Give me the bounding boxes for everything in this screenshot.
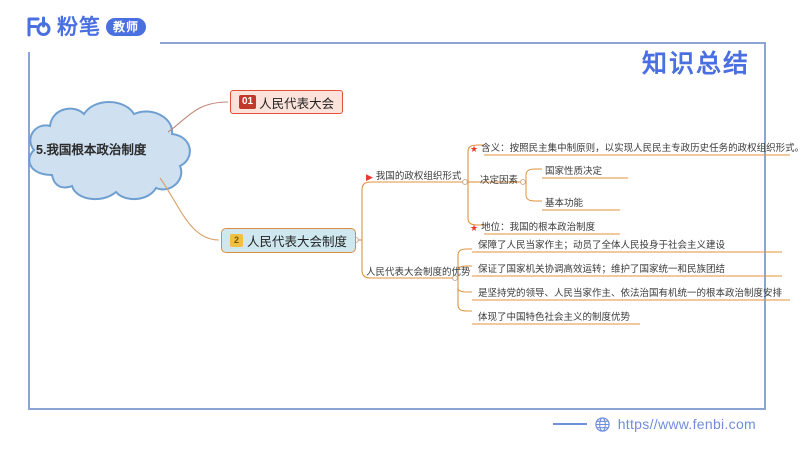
brand-name: 粉笔 bbox=[57, 17, 101, 38]
frame-border-left bbox=[28, 52, 30, 410]
footer: https//www.fenbi.com bbox=[553, 416, 756, 432]
branch-badge-02: 2 bbox=[230, 234, 243, 247]
branch-node-congress-system[interactable]: 2 人民代表大会制度 bbox=[221, 228, 356, 253]
brand-logo: 粉笔 教师 bbox=[26, 14, 146, 40]
branch-label-02: 人民代表大会制度 bbox=[247, 231, 347, 250]
topic-label-text: 人民代表大会制度的优势 bbox=[366, 268, 471, 278]
globe-icon bbox=[595, 417, 610, 432]
branch-node-people-congress[interactable]: 01 人民代表大会 bbox=[230, 90, 343, 114]
leaf-status[interactable]: ★ 地位：我国的根本政治制度 bbox=[470, 223, 595, 233]
flag-marker-icon: ▶ bbox=[366, 173, 373, 182]
leaf-advantage-1[interactable]: 保障了人民当家作主；动员了全体人民投身于社会主义建设 bbox=[478, 241, 725, 251]
branch-badge-01: 01 bbox=[239, 95, 256, 109]
branch-label-01: 人民代表大会 bbox=[259, 93, 334, 112]
footer-url[interactable]: https//www.fenbi.com bbox=[618, 416, 756, 432]
slide-page: 粉笔 教师 知识总结 bbox=[0, 0, 800, 450]
fb-logo-icon bbox=[26, 14, 52, 40]
footer-divider bbox=[553, 423, 587, 425]
topic-label-government-form[interactable]: ▶ 我国的政权组织形式 bbox=[366, 172, 461, 182]
leaf-state-nature[interactable]: 国家性质决定 bbox=[545, 167, 602, 177]
leaf-advantage-4[interactable]: 体现了中国特色社会主义的制度优势 bbox=[478, 313, 630, 323]
leaf-status-text: 地位：我国的根本政治制度 bbox=[481, 223, 595, 233]
topic-label-text: 我国的政权组织形式 bbox=[376, 172, 462, 182]
topic-label-advantages[interactable]: 人民代表大会制度的优势 bbox=[366, 268, 471, 278]
leaf-meaning-text: 含义：按照民主集中制原则，以实现人民民主专政历史任务的政权组织形式。 bbox=[481, 144, 800, 154]
leaf-basic-function[interactable]: 基本功能 bbox=[545, 199, 583, 209]
frame-border-right bbox=[764, 42, 766, 410]
leaf-determining-factors[interactable]: 决定因素 bbox=[480, 176, 518, 186]
leaf-meaning[interactable]: ★ 含义：按照民主集中制原则，以实现人民民主专政历史任务的政权组织形式。 bbox=[470, 144, 800, 154]
leaf-advantage-2[interactable]: 保证了国家机关协调高效运转；维护了国家统一和民族团结 bbox=[478, 265, 725, 275]
leaf-advantage-3[interactable]: 是坚持党的领导、人民当家作主、依法治国有机统一的根本政治制度安排 bbox=[478, 289, 782, 299]
star-marker-icon: ★ bbox=[470, 145, 478, 154]
brand-badge: 教师 bbox=[106, 18, 146, 36]
frame-border-bottom bbox=[28, 408, 766, 410]
star-marker-icon: ★ bbox=[470, 224, 478, 233]
root-node-label: 5.我国根本政治制度 bbox=[36, 144, 146, 158]
page-title: 知识总结 bbox=[642, 44, 750, 80]
